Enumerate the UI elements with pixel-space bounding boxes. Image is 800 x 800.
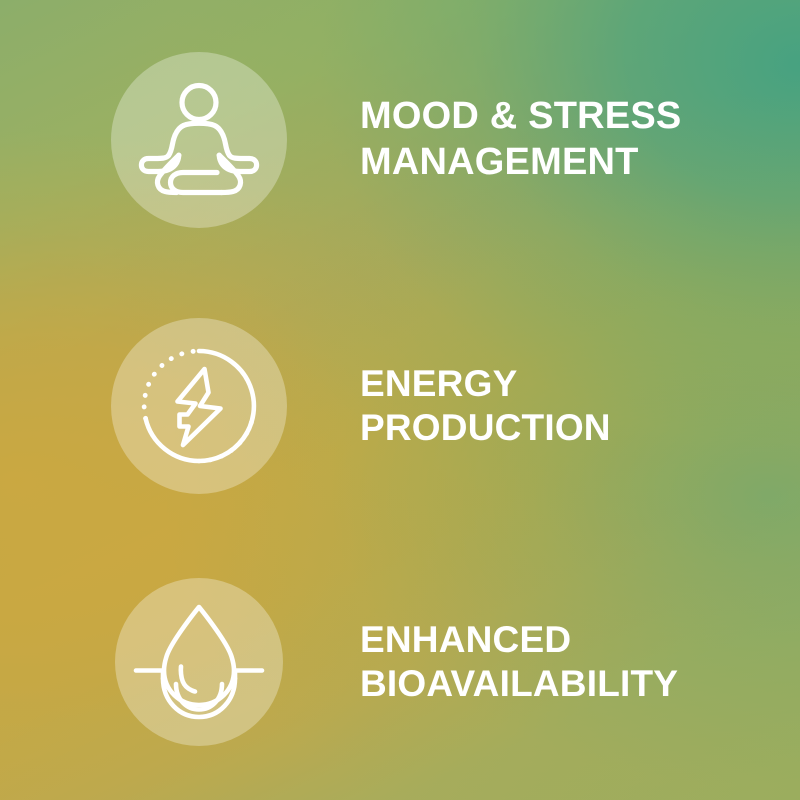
benefit-item-mood-stress-management: Mood & Stress Management	[0, 52, 800, 228]
lightning-bolt-circle-icon	[138, 345, 260, 467]
icon-container-2	[0, 318, 330, 494]
icon-container-3	[0, 578, 330, 746]
benefit-item-enhanced-bioavailability: Enhanced Bioavailability	[0, 578, 800, 746]
icon-disc-background-2	[111, 318, 287, 494]
benefit-label-3: Enhanced Bioavailability	[360, 618, 678, 707]
benefit-label-2: Energy Production	[360, 362, 611, 451]
benefits-list: Mood & Stress Management	[0, 0, 800, 800]
benefit-label-1: Mood & Stress Management	[360, 94, 681, 185]
icon-container-1	[0, 52, 330, 228]
icon-disc-background-1	[111, 52, 287, 228]
meditation-lotus-icon	[139, 81, 259, 199]
icon-disc-background-3	[115, 578, 283, 746]
water-droplet-ripple-icon	[133, 600, 265, 724]
benefit-item-energy-production: Energy Production	[0, 318, 800, 494]
